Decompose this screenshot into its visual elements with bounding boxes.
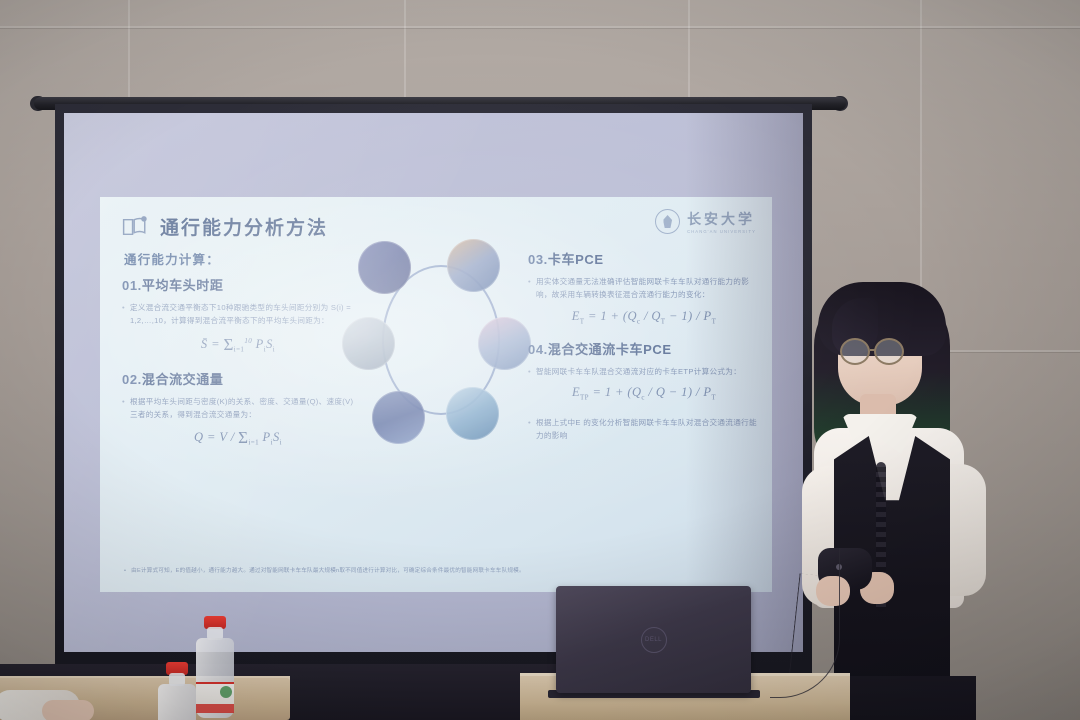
university-name-cn: 长安大学: [687, 209, 756, 229]
slide-footnote: • 由E计算式可知，E的值越小，通行能力越大。通过对智能网联卡车车队最大规模n取…: [124, 567, 754, 576]
dell-logo-icon: DELL: [641, 627, 667, 653]
section-04-bullet-text-1: 智能网联卡车车队混合交通流对应的卡车ETP计算公式为：: [536, 365, 741, 378]
university-logo: 长安大学 CHANG'AN UNIVERSITY: [655, 209, 756, 234]
section-01-bullet-text: 定义混合流交通平衡态下10种跟驰类型的车头间距分别为 S(i) = 1,2,…,…: [130, 301, 354, 328]
circular-photo-diagram: [352, 239, 528, 449]
photo-scene: 通行能力分析方法 长安大学 CHANG'AN UNIVERSITY 通行能力计算…: [0, 0, 1080, 720]
section-02-formula: Q = V / Σi=1 PiSi: [122, 428, 354, 448]
slide-column-right: 03.卡车PCE • 用实体交通量无法准确评估智能网联卡车车队对通行能力的影响，…: [528, 249, 760, 446]
section-02-bullet-1: • 根据平均车头间距与密度(K)的关系、密度、交通量(Q)、速度(V)三者的关系…: [122, 395, 354, 422]
section-03-bullet-text: 用实体交通量无法准确评估智能网联卡车车队对通行能力的影响，故采用车辆转换表征混合…: [536, 275, 760, 302]
wall-seam-vertical-3: [688, 0, 690, 104]
open-book-icon: [122, 216, 148, 238]
section-01-bullet-1: • 定义混合流交通平衡态下10种跟驰类型的车头间距分别为 S(i) = 1,2,…: [122, 301, 354, 328]
section-03-bullet-1: • 用实体交通量无法准确评估智能网联卡车车队对通行能力的影响，故采用车辆转换表征…: [528, 275, 760, 302]
foreground-hand: [42, 700, 94, 720]
bottle-body: [158, 684, 196, 720]
section-04-bullet-1: • 智能网联卡车车队混合交通流对应的卡车ETP计算公式为：: [528, 365, 760, 378]
bullet-dot-icon: •: [528, 275, 531, 302]
glasses-bridge: [870, 349, 876, 351]
bullet-dot-icon: •: [122, 395, 125, 422]
section-04-title: 混合交通流卡车PCE: [548, 342, 672, 357]
glasses-lens-left: [840, 338, 870, 365]
bullet-dot-icon: •: [124, 567, 126, 576]
section-04-heading: 04.混合交通流卡车PCE: [528, 339, 760, 358]
bullet-dot-icon: •: [528, 365, 531, 378]
bullet-dot-icon: •: [528, 416, 531, 443]
university-seal-icon: [655, 209, 680, 234]
wall-seam-horizontal-1: [0, 26, 1080, 28]
photo-node-3: [478, 317, 531, 370]
presentation-slide: 通行能力分析方法 长安大学 CHANG'AN UNIVERSITY 通行能力计算…: [100, 197, 772, 592]
photo-node-2: [447, 239, 500, 292]
bottle-label-emblem: [220, 686, 232, 698]
bottle-body: [196, 638, 234, 718]
slide-section-04: 04.混合交通流卡车PCE • 智能网联卡车车队混合交通流对应的卡车ETP计算公…: [528, 339, 760, 442]
section-01-title: 平均车头时距: [142, 278, 224, 293]
section-03-number: 03.: [528, 252, 548, 267]
section-04-formula: ETP = 1 + (Qc / Q − 1) / PT: [528, 385, 760, 402]
university-name-en: CHANG'AN UNIVERSITY: [687, 229, 756, 234]
section-02-title: 混合流交通量: [142, 372, 224, 387]
slide-section-03: 03.卡车PCE • 用实体交通量无法准确评估智能网联卡车车队对通行能力的影响，…: [528, 249, 760, 325]
section-01-number: 01.: [122, 278, 142, 293]
section-02-number: 02.: [122, 372, 142, 387]
section-01-heading: 01.平均车头时距: [122, 275, 354, 294]
slide-column-left: 01.平均车头时距 • 定义混合流交通平衡态下10种跟驰类型的车头间距分别为 S…: [122, 275, 354, 462]
section-02-heading: 02.混合流交通量: [122, 369, 354, 388]
slide-section-01: 01.平均车头时距 • 定义混合流交通平衡态下10种跟驰类型的车头间距分别为 S…: [122, 275, 354, 355]
section-01-formula: S̄ = Σi=110 PiSi: [122, 335, 354, 355]
photo-node-5: [372, 391, 425, 444]
section-02-bullet-text: 根据平均车头间距与密度(K)的关系、密度、交通量(Q)、速度(V)三者的关系，得…: [130, 395, 354, 422]
section-04-bullet-2: • 根据上式中E 的变化分析智能网联卡车车队对混合交通流通行能力的影响: [528, 416, 760, 443]
section-04-number: 04.: [528, 342, 548, 357]
photo-node-6: [342, 317, 395, 370]
photo-node-4: [446, 387, 499, 440]
slide-footnote-text: 由E计算式可知，E的值越小，通行能力越大。通过对智能网联卡车车队最大规模n取不同…: [131, 567, 525, 576]
slide-title: 通行能力分析方法: [160, 213, 328, 240]
slide-section-02: 02.混合流交通量 • 根据平均车头间距与密度(K)的关系、密度、交通量(Q)、…: [122, 369, 354, 449]
slide-subtitle: 通行能力计算：: [124, 249, 220, 268]
section-03-formula: ET = 1 + (Qc / QT − 1) / PT: [528, 309, 760, 326]
projector-screen-surface: 通行能力分析方法 长安大学 CHANG'AN UNIVERSITY 通行能力计算…: [64, 113, 803, 652]
section-04-bullet-text-2: 根据上式中E 的变化分析智能网联卡车车队对混合交通流通行能力的影响: [536, 416, 760, 443]
bottle-label-stripe: [196, 704, 234, 713]
laptop: DELL: [556, 586, 751, 693]
bullet-dot-icon: •: [122, 301, 125, 328]
photo-node-1: [358, 241, 411, 294]
section-03-heading: 03.卡车PCE: [528, 249, 760, 268]
slide-header: 通行能力分析方法: [122, 213, 328, 240]
section-03-title: 卡车PCE: [548, 252, 604, 267]
glasses-lens-right: [874, 338, 904, 365]
wall-seam-vertical-2: [404, 0, 406, 104]
